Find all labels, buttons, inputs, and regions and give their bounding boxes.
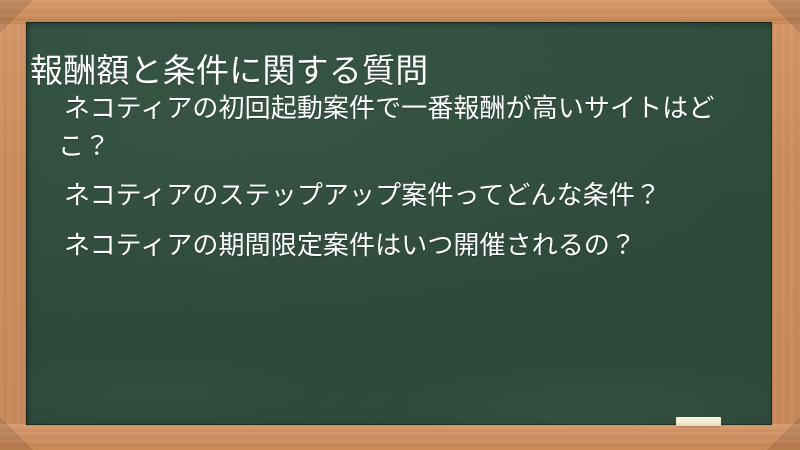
chalkboard-surface: 報酬額と条件に関する質問 ネコティアの初回起動案件で一番報酬が高いサイトはどこ？…: [26, 22, 772, 425]
list-item: ネコティアの初回起動案件で一番報酬が高いサイトはどこ？: [30, 90, 762, 165]
chalk-stick: [676, 417, 721, 426]
list-item: ネコティアのステップアップ案件ってどんな条件？: [30, 177, 762, 215]
chalkboard-slide: 報酬額と条件に関する質問 ネコティアの初回起動案件で一番報酬が高いサイトはどこ？…: [0, 0, 800, 450]
frame-rail-bottom: [0, 424, 800, 450]
chalkboard-content: 報酬額と条件に関する質問 ネコティアの初回起動案件で一番報酬が高いサイトはどこ？…: [26, 22, 772, 425]
page-title: 報酬額と条件に関する質問: [30, 52, 762, 91]
frame-rail-top: [0, 0, 800, 24]
question-list: ネコティアの初回起動案件で一番報酬が高いサイトはどこ？ ネコティアのステップアッ…: [30, 90, 762, 265]
list-item: ネコティアの期間限定案件はいつ開催されるの？: [30, 227, 762, 265]
